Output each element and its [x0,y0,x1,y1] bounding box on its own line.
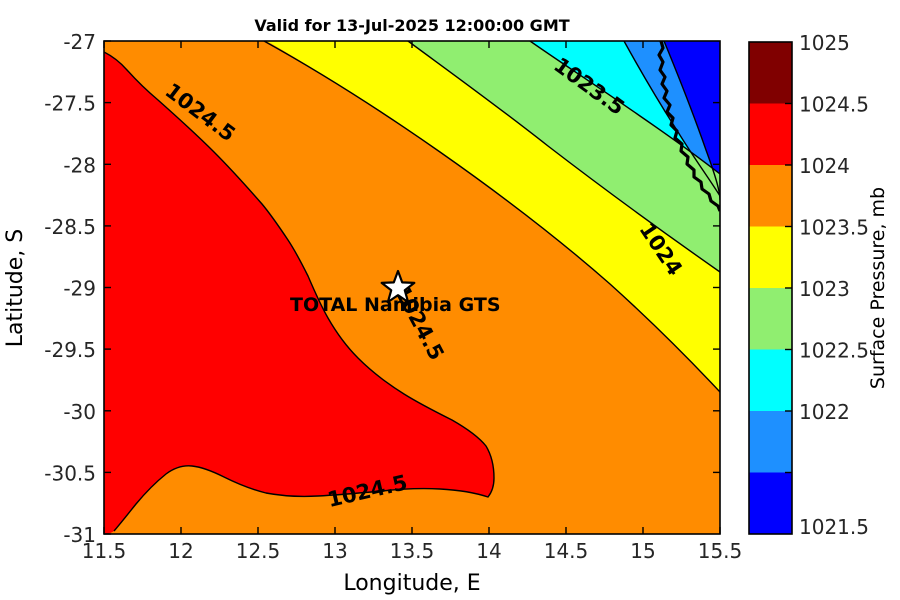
colorbar-label-0: 1025 [799,31,850,55]
y-tick-label-7: -30.5 [44,461,96,485]
y-tick-label-0: -27 [63,30,96,54]
x-tick-label-4: 13.5 [390,539,435,563]
contour-figure: 1024.5 1023.5 1024 1024.5 1024.5 TOTAL N… [0,0,900,600]
colorbar-swatch-1021_5 [749,473,792,535]
colorbar-label-6: 1022 [799,400,850,424]
x-tick-labels: 11.5 12 12.5 13 13.5 14 14.5 15 15.5 [82,539,743,563]
colorbar-label-4: 1023 [799,277,850,301]
y-tick-label-8: -31 [63,523,96,547]
x-tick-label-8: 15.5 [698,539,743,563]
y-tick-label-1: -27.5 [44,92,96,116]
figure-canvas: 1024.5 1023.5 1024 1024.5 1024.5 TOTAL N… [0,0,900,600]
colorbar-swatch-1022 [749,411,792,473]
colorbar-label-3: 1023.5 [799,216,869,240]
colorbar-swatch-1023_5 [749,227,792,289]
y-tick-label-3: -28.5 [44,215,96,239]
x-tick-label-2: 12.5 [236,539,281,563]
y-tick-label-5: -29.5 [44,338,96,362]
colorbar-swatch-1025 [749,42,792,104]
colorbar-swatch-1024_5 [749,104,792,166]
colorbar-label-5: 1022.5 [799,339,869,363]
x-tick-label-7: 15 [630,539,655,563]
colorbar-label-2: 1024 [799,154,850,178]
x-tick-label-1: 12 [168,539,193,563]
colorbar-label-7: 1021.5 [799,515,869,539]
x-tick-label-5: 14 [476,539,501,563]
x-tick-label-3: 13 [322,539,347,563]
y-tick-label-6: -30 [63,400,96,424]
colorbar-swatch-1022_5 [749,350,792,412]
x-tick-label-6: 14.5 [544,539,589,563]
colorbar-swatch-1024 [749,165,792,227]
station-label: TOTAL Namibia GTS [290,294,501,316]
colorbar-swatch-1023 [749,288,792,350]
y-tick-label-4: -29 [63,277,96,301]
colorbar-label-1: 1024.5 [799,93,869,117]
x-axis-title: Longitude, E [343,571,480,596]
y-axis-title: Latitude, S [3,229,28,348]
plot-title: Valid for 13-Jul-2025 12:00:00 GMT [254,16,569,35]
colorbar-title: Surface Pressure, mb [867,187,889,389]
y-tick-label-2: -28 [63,153,96,177]
